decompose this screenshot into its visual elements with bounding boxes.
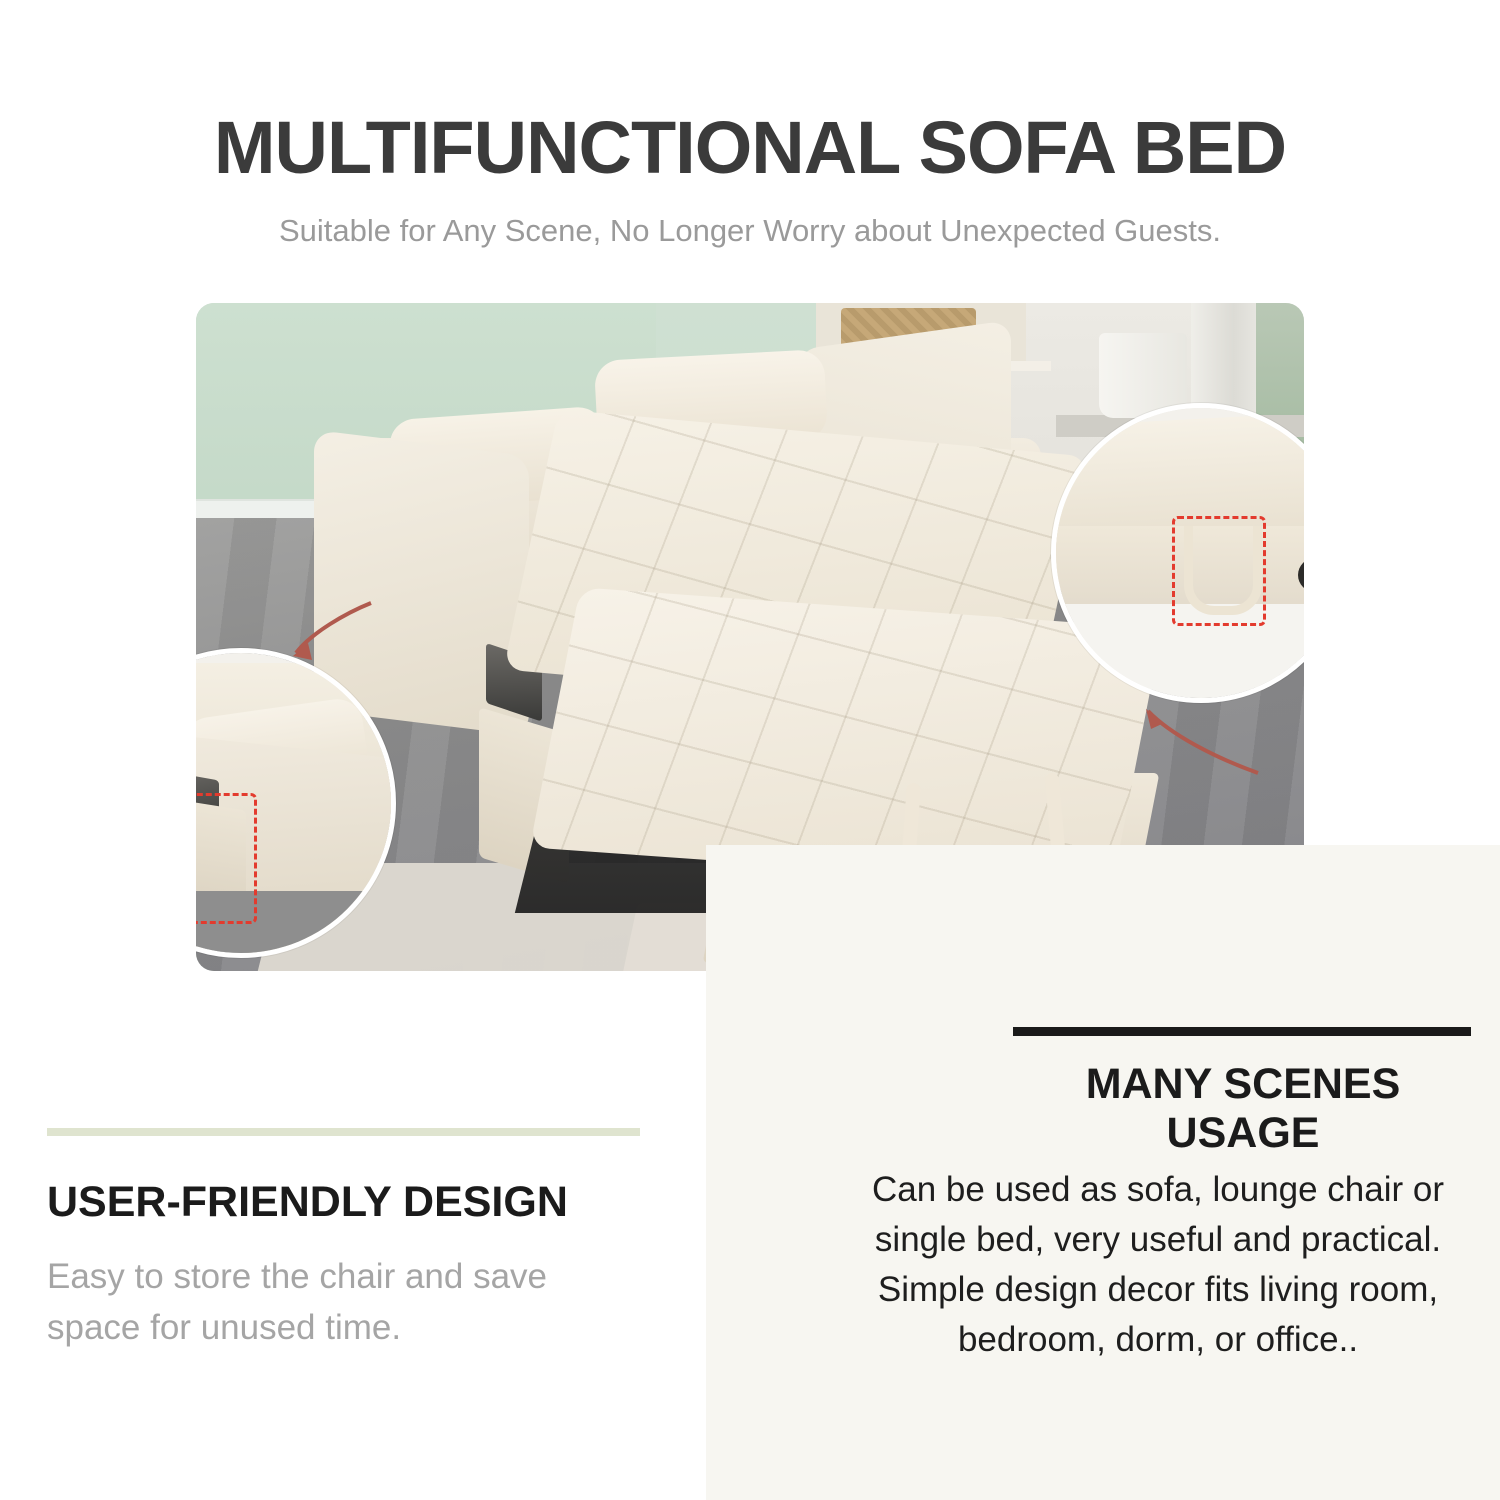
left-panel-rule [47, 1128, 640, 1136]
highlight-box-pocket [196, 793, 257, 924]
right-panel-body: Can be used as sofa, lounge chair or sin… [843, 1165, 1473, 1365]
left-panel-heading: USER-FRIENDLY DESIGN [47, 1178, 687, 1227]
page-title: MULTIFUNCTIONAL SOFA BED [0, 105, 1500, 190]
highlight-box-strap [1172, 516, 1266, 626]
callout-pull-strap [1051, 403, 1304, 703]
left-panel-body: Easy to store the chair and save space f… [47, 1252, 647, 1354]
right-panel-heading: MANY SCENES USAGE [1013, 1060, 1473, 1158]
right-panel-rule [1013, 1027, 1471, 1036]
callout-side-pocket [196, 648, 396, 958]
page-subtitle: Suitable for Any Scene, No Longer Worry … [0, 213, 1500, 249]
header: MULTIFUNCTIONAL SOFA BED Suitable for An… [0, 0, 1500, 290]
